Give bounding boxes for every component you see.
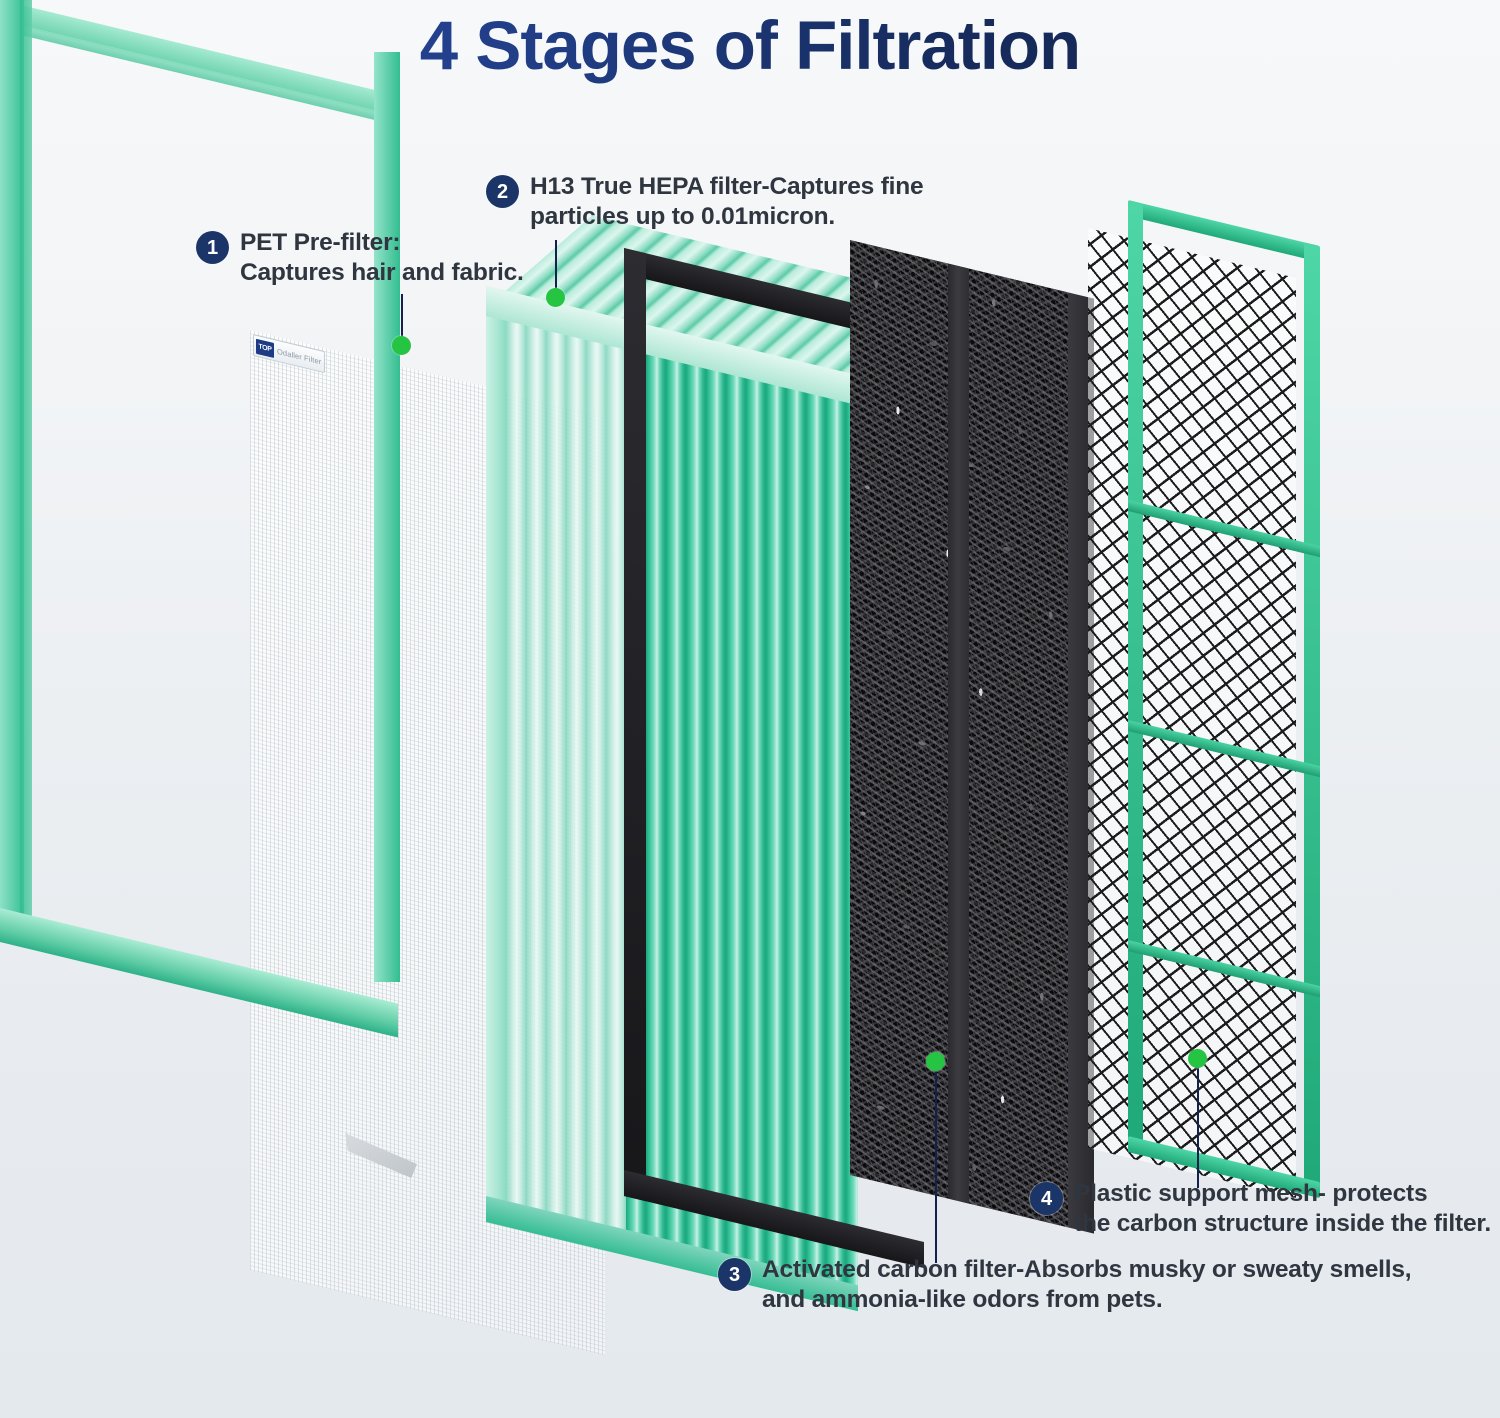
leader-line-3 [935, 1063, 937, 1263]
callout-2-text: H13 True HEPA filter-Captures fine parti… [530, 172, 923, 233]
callout-3[interactable]: 3 Activated carbon filter-Absorbs musky … [718, 1255, 1411, 1316]
callout-1-text: PET Pre-filter: Captures hair and fabric… [240, 228, 524, 289]
activated-carbon-block [850, 240, 1068, 1227]
callout-1-badge: 1 [196, 231, 229, 264]
carbon-center-rib [948, 264, 969, 1204]
callout-2-badge: 2 [486, 175, 519, 208]
callout-3-text: Activated carbon filter-Absorbs musky or… [762, 1255, 1411, 1316]
frame-crossbar-3 [1128, 940, 1320, 997]
callout-4-text: Plastic support mesh- protects the carbo… [1074, 1179, 1491, 1240]
hepa-pleats-rear [486, 286, 636, 1252]
infographic-stage: 4 Stages of Filtration TOP Odaller Filte… [0, 0, 1500, 1418]
hepa-frame-left [486, 286, 506, 1221]
frame-crossbar-2 [1128, 720, 1320, 777]
leader-dot-3 [926, 1052, 945, 1071]
callout-4-badge: 4 [1030, 1182, 1063, 1215]
frame-crossbar-1 [1128, 500, 1320, 557]
leader-line-4 [1197, 1060, 1199, 1188]
leader-dot-2 [546, 288, 565, 307]
leader-dot-4 [1188, 1049, 1207, 1068]
brand-logo: TOP [256, 338, 274, 357]
leader-dot-1 [392, 336, 411, 355]
callout-1[interactable]: 1 PET Pre-filter: Captures hair and fabr… [196, 228, 524, 289]
callout-3-badge: 3 [718, 1258, 751, 1291]
callout-2[interactable]: 2 H13 True HEPA filter-Captures fine par… [486, 172, 923, 233]
callout-4[interactable]: 4 Plastic support mesh- protects the car… [1030, 1179, 1491, 1240]
support-mesh-frame [1128, 200, 1320, 1198]
brand-sticker-label: Odaller Filter [277, 346, 321, 366]
